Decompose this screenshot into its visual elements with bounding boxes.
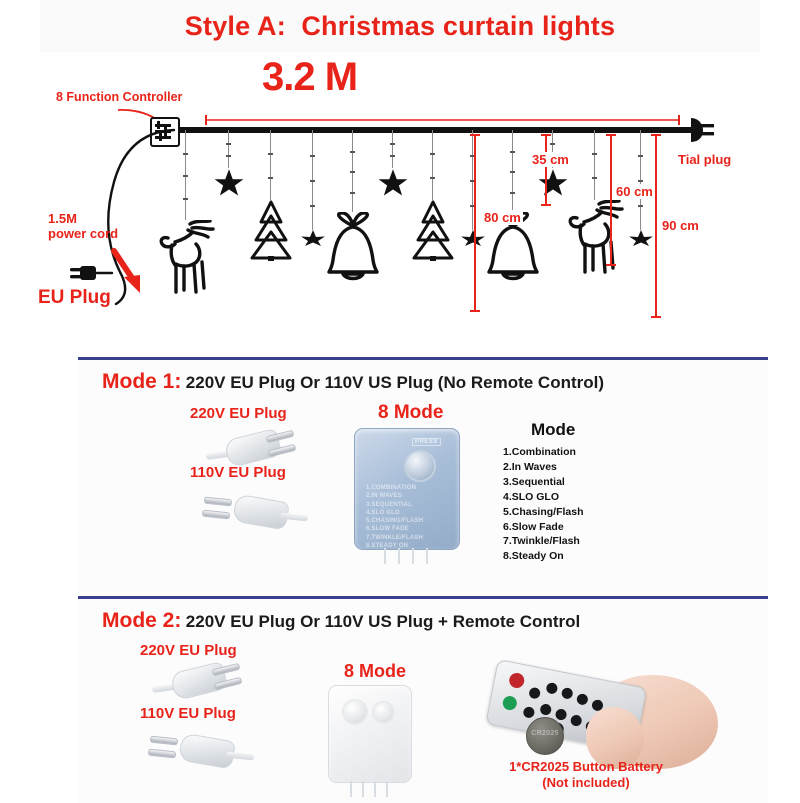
mode-list-item: 5.Chasing/Flash (503, 505, 584, 520)
ornament-star (214, 168, 244, 203)
emboss-line: 3.SEQUENTIAL (366, 501, 423, 509)
product-diagram: 3.2 M 8 Function Controller 1.5M power c… (0, 52, 800, 357)
measure-90cm-label: 90 cm (660, 218, 701, 233)
remote-control-image (498, 659, 728, 769)
mode-1-panel: Mode 1: 220V EU Plug Or 110V US Plug (No… (78, 357, 768, 592)
emboss-line: 6.SLOW FADE (366, 525, 423, 533)
measure-80cm-label: 80 cm (482, 210, 523, 225)
battery-label: 1*CR2025 Button Battery (Not included) (456, 759, 716, 792)
drop-strand (270, 130, 271, 200)
measure-60cm-bar (606, 134, 616, 266)
mode-1-plug-220-label: 220V EU Plug (190, 405, 287, 422)
drop-strand (352, 130, 353, 212)
drop-strand (312, 130, 313, 230)
mode-list-item: 8.Steady On (503, 549, 584, 564)
mode-2-plug-220-label: 220V EU Plug (140, 642, 237, 659)
tail-plug-label: Tial plug (678, 152, 731, 167)
mode-2-text: 220V EU Plug Or 110V US Plug + Remote Co… (186, 612, 580, 631)
drop-strand (392, 130, 393, 168)
drop-strand (512, 130, 513, 212)
mode-1-note: (No Remote Control) (438, 373, 604, 392)
eu-plug-label: EU Plug (38, 287, 111, 309)
mode-1-controller-label: 8 Mode (378, 402, 443, 424)
controller-button[interactable] (404, 450, 436, 482)
mode-2-number: Mode 2: (102, 609, 181, 632)
mode-1-plug-110-label: 110V EU Plug (190, 464, 286, 481)
press-emboss-text: PRESS (412, 438, 441, 446)
drop-strand (594, 130, 595, 200)
emboss-line: 7.TWINKLE/FLASH (366, 534, 423, 542)
measure-80cm-bar (470, 134, 480, 312)
ornament-small-star (300, 230, 326, 251)
emboss-line: 1.COMBINATION (366, 484, 423, 492)
main-wire (168, 127, 692, 133)
drop-strand (185, 130, 186, 220)
mode-list-item: 1.Combination (503, 445, 584, 460)
ornament-bell (327, 212, 379, 287)
mode-1-text: 220V EU Plug Or 110V US Plug (186, 373, 434, 392)
drop-strand (432, 130, 433, 200)
measure-35cm-bar (541, 134, 551, 206)
controller-mode-emboss: 1.COMBINATION2.IN WAVES3.SEQUENTIAL4.SLO… (366, 484, 423, 550)
mode-list-title: Mode (531, 420, 575, 440)
ornament-star (378, 168, 408, 203)
controller-dial[interactable] (342, 699, 368, 725)
mode-list-item: 6.Slow Fade (503, 520, 584, 535)
remote-mode-button[interactable] (502, 695, 518, 711)
controller-button[interactable] (372, 701, 395, 724)
ornament-tree (411, 200, 455, 267)
mode-list-item: 7.Twinkle/Flash (503, 534, 584, 549)
measure-60cm-label: 60 cm (614, 184, 655, 199)
total-length-label: 3.2 M (262, 55, 357, 100)
mode-2-panel: Mode 2: 220V EU Plug Or 110V US Plug + R… (78, 596, 768, 803)
mode-list: 1.Combination2.In Waves3.Sequential4.SLO… (503, 445, 584, 564)
page-title: Style A: Christmas curtain lights (0, 0, 800, 52)
drop-strand (640, 130, 641, 230)
mode-list-item: 3.Sequential (503, 475, 584, 490)
mode-2-plug-110-image (144, 729, 254, 777)
ornament-small-star (628, 230, 654, 251)
mode-2-plug-110-label: 110V EU Plug (140, 705, 236, 722)
mode-2-heading: Mode 2: 220V EU Plug Or 110V US Plug + R… (102, 609, 580, 633)
mode-list-item: 2.In Waves (503, 460, 584, 475)
battery-emboss-text: CR2025 (527, 730, 563, 737)
mode-list-item: 4.SLO GLO (503, 490, 584, 505)
ornament-reindeer (156, 220, 216, 301)
mode-1-plug-110-image (198, 490, 308, 538)
battery-image: CR2025 (526, 717, 564, 755)
measure-35cm-label: 35 cm (530, 152, 571, 167)
mode-1-controller-image: PRESS 1.COMBINATION2.IN WAVES3.SEQUENTIA… (354, 428, 460, 564)
ornament-tree (249, 200, 293, 267)
function-controller-label: 8 Function Controller (56, 90, 182, 104)
mode-1-number: Mode 1: (102, 370, 181, 393)
eu-plug-icon (68, 258, 116, 288)
mode-2-controller-image (328, 685, 412, 797)
mode-1-heading: Mode 1: 220V EU Plug Or 110V US Plug (No… (102, 370, 604, 394)
mode-2-controller-label: 8 Mode (344, 661, 406, 682)
emboss-line: 2.IN WAVES (366, 492, 423, 500)
mode-2-plug-220-image (154, 661, 254, 705)
total-length-dimension-line (205, 114, 680, 126)
power-cord-label: 1.5M power cord (48, 212, 118, 242)
drop-strand (228, 130, 229, 168)
tail-plug-icon (678, 114, 714, 146)
emboss-line: 4.SLO GLO (366, 509, 423, 517)
emboss-line: 8.STEADY ON (366, 542, 423, 550)
remote-power-button[interactable] (508, 672, 526, 690)
emboss-line: 5.CHASING/FLASH (366, 517, 423, 525)
